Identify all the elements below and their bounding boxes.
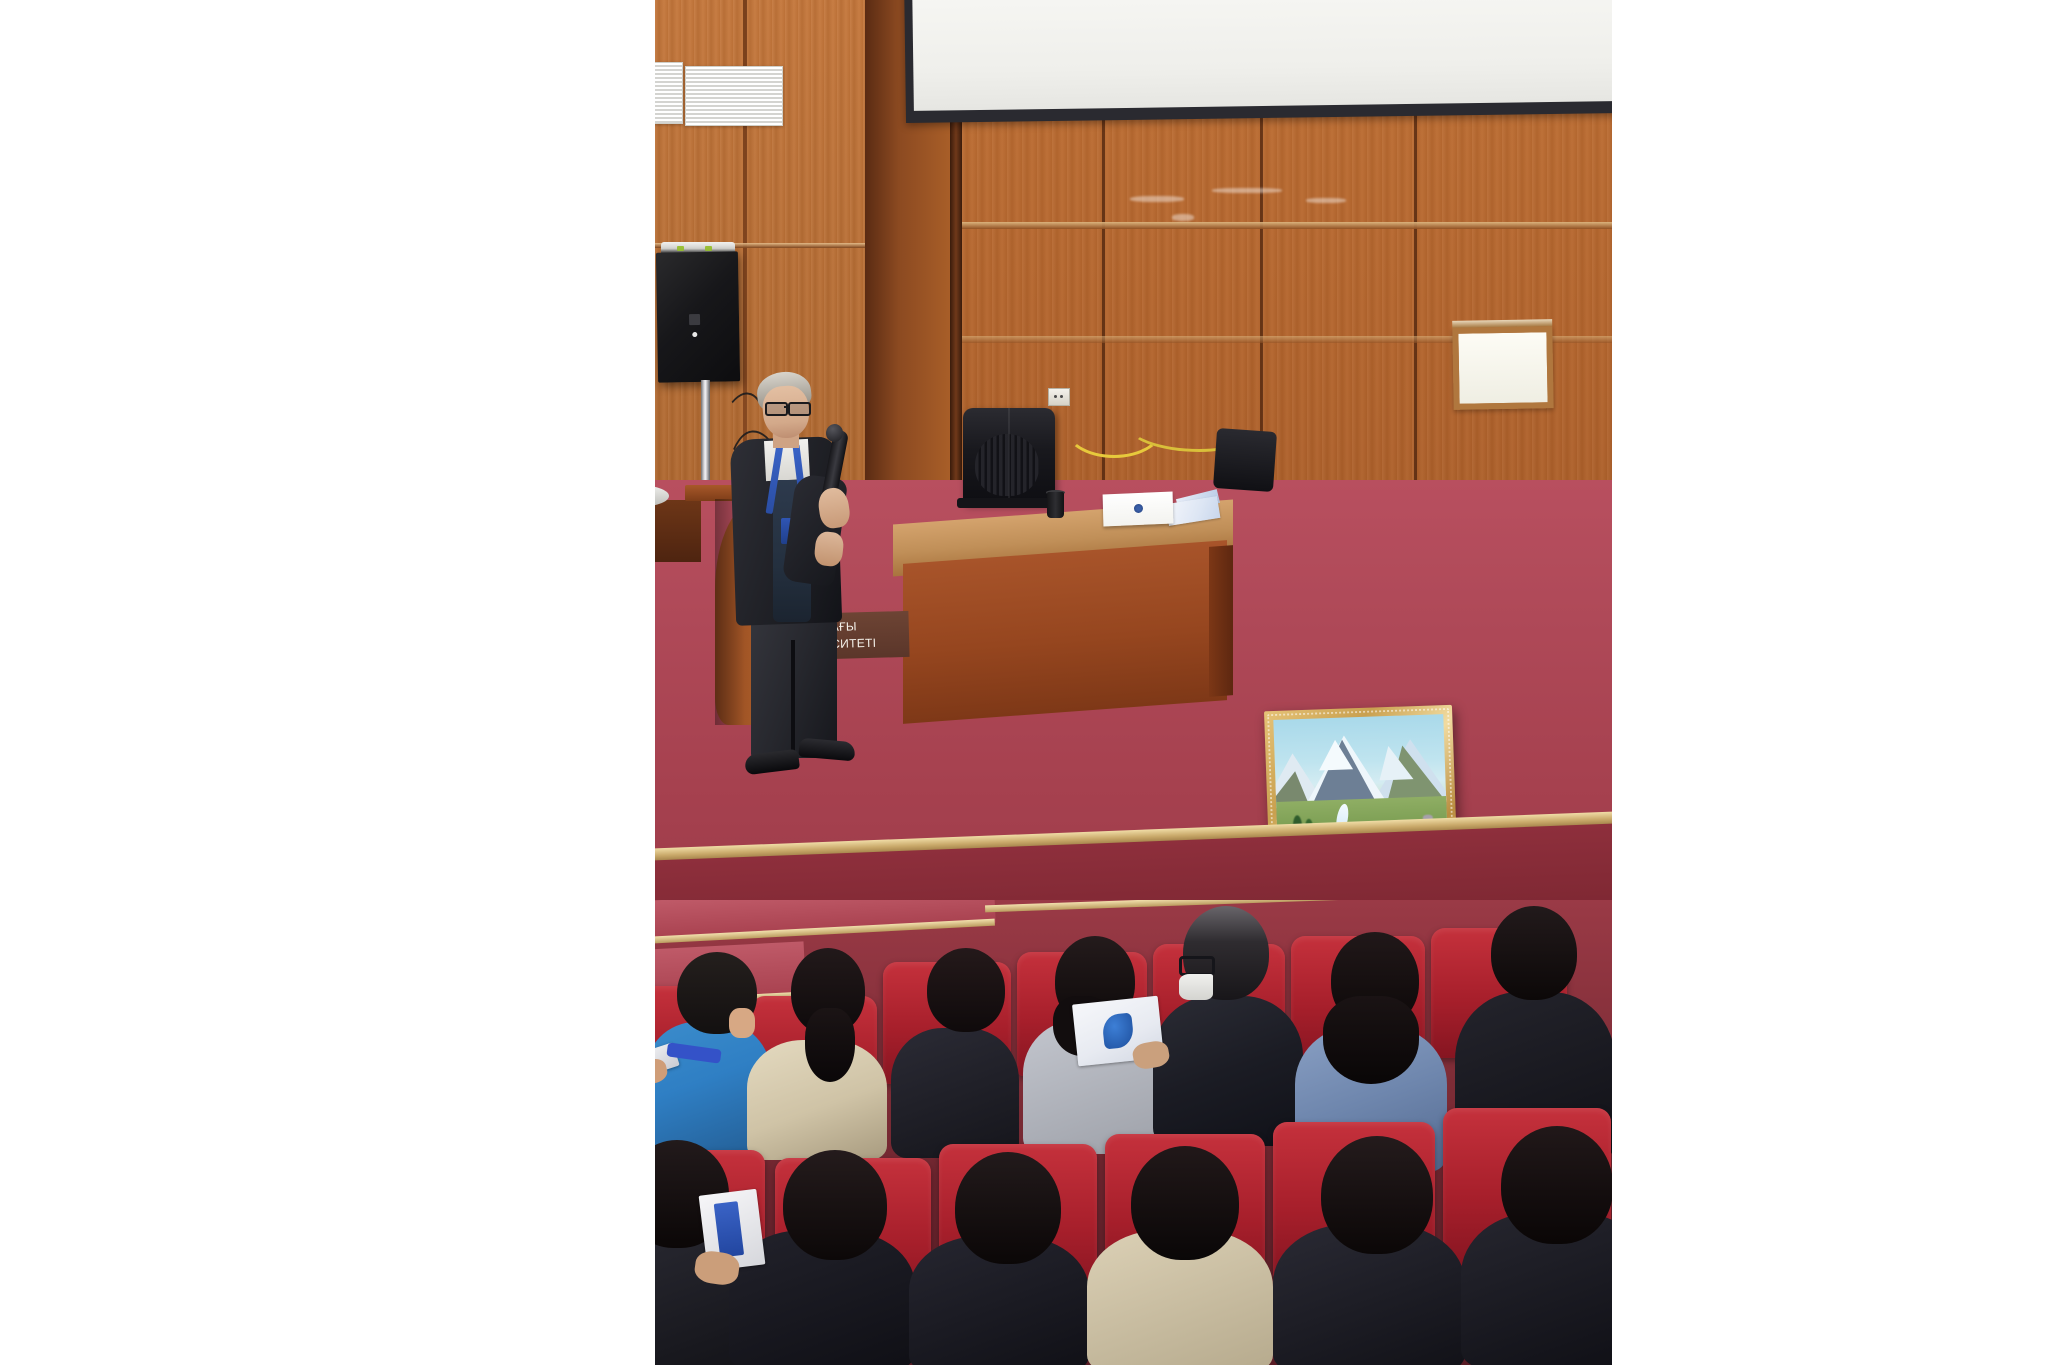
executive-leather-chair bbox=[963, 408, 1055, 516]
socket-hole bbox=[1054, 395, 1057, 398]
audience-area bbox=[655, 900, 1612, 1365]
table-side-panel bbox=[1209, 545, 1233, 697]
person-head bbox=[955, 1152, 1061, 1264]
pa-indicator-led bbox=[705, 246, 712, 251]
person-ear bbox=[729, 1008, 755, 1038]
chair-ribbed-panel bbox=[975, 434, 1039, 496]
tablet-screen-graphic bbox=[1101, 1013, 1134, 1050]
face-mask-icon bbox=[1179, 974, 1213, 1000]
notice-board-ledge bbox=[1452, 319, 1552, 328]
person-head bbox=[1501, 1126, 1612, 1244]
person-head bbox=[1131, 1146, 1239, 1260]
person-body bbox=[891, 1028, 1019, 1158]
projection-screen bbox=[904, 0, 1612, 123]
eyeglass-lens bbox=[788, 402, 811, 416]
riser-trim bbox=[985, 900, 1405, 912]
person-head bbox=[783, 1150, 887, 1260]
framed-notice-board bbox=[1452, 326, 1553, 410]
mountain-ridge-right-snow bbox=[1378, 745, 1413, 780]
pa-indicator-led bbox=[677, 246, 684, 251]
person-head bbox=[927, 948, 1005, 1032]
name-plate bbox=[1103, 491, 1174, 526]
presidium-table bbox=[893, 512, 1233, 712]
executive-leather-chair-secondary bbox=[1213, 428, 1277, 492]
auditorium-photograph: АҒЫ СИТЕТІ bbox=[655, 0, 1612, 1365]
person-ponytail bbox=[805, 1008, 855, 1082]
paper-cup bbox=[1047, 492, 1064, 518]
eyeglass-lens bbox=[765, 402, 788, 416]
person-head bbox=[1491, 906, 1577, 1000]
page-canvas: АҒЫ СИТЕТІ bbox=[0, 0, 2048, 1365]
chair-armrest bbox=[957, 498, 1061, 508]
air-vent-small-icon bbox=[655, 62, 683, 124]
presenter-trouser-seam bbox=[791, 640, 795, 758]
eyeglass-bridge bbox=[784, 406, 789, 408]
university-emblem-icon bbox=[1133, 503, 1142, 512]
pa-power-led-icon bbox=[692, 332, 697, 337]
presenter-eyeglasses-icon bbox=[765, 402, 811, 412]
eyeglasses-icon bbox=[1179, 956, 1215, 976]
mountain-snow-cap bbox=[1318, 739, 1353, 770]
projection-screen-surface bbox=[912, 0, 1612, 111]
person-hair bbox=[1323, 996, 1419, 1084]
table-front-panel bbox=[903, 540, 1227, 724]
air-vent-large-icon bbox=[685, 66, 783, 126]
person-head bbox=[1321, 1136, 1433, 1254]
chair-seam bbox=[1008, 408, 1010, 504]
booklet-cover bbox=[714, 1201, 744, 1258]
pa-loudspeaker bbox=[656, 251, 740, 382]
presenter bbox=[727, 372, 867, 782]
pa-brand-badge-icon bbox=[689, 314, 700, 325]
